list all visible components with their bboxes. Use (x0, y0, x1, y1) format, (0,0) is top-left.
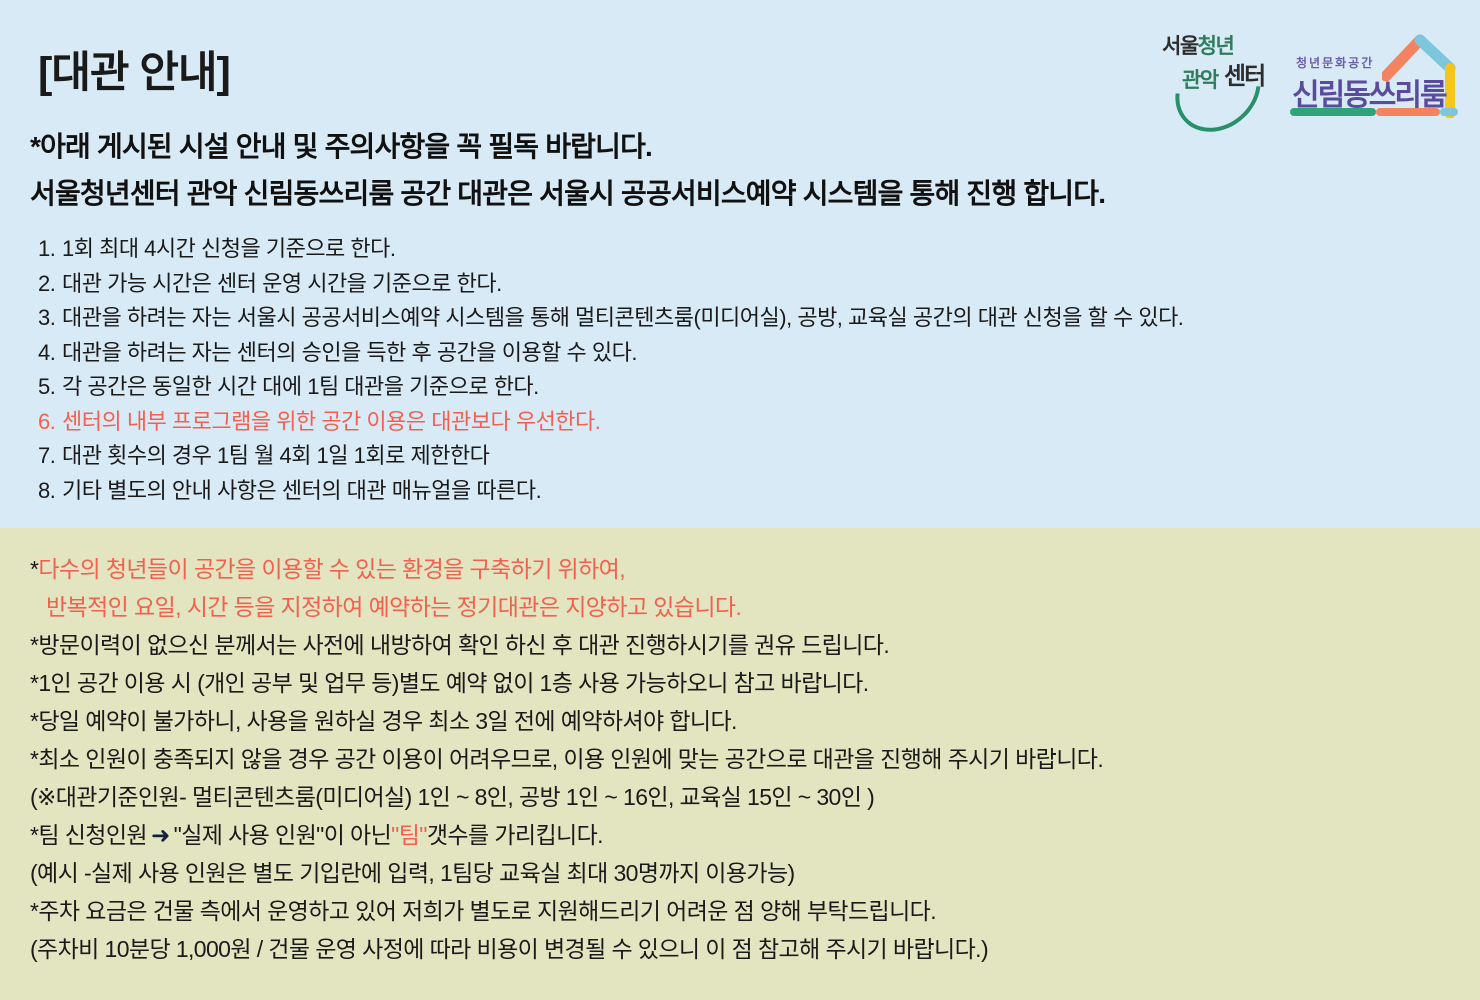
rule-number: 8. (38, 474, 62, 509)
rental-guide-poster: [대관 안내] 서울청년 센터 관악 청년문화공간 신림동쓰리룸 (0, 0, 1480, 1000)
note-text-red: "팀" (391, 822, 427, 848)
note-item: *방문이력이 없으신 분께서는 사전에 내방하여 확인 하신 후 대관 진행하시… (30, 626, 1103, 664)
note-text: *최소 인원이 충족되지 않을 경우 공간 이용이 어려우므로, 이용 인원에 … (30, 746, 1103, 772)
logo-center-text: 센터 (1224, 56, 1264, 91)
rule-number: 7. (38, 439, 62, 474)
note-text: (예시 -실제 사용 인원은 별도 기입란에 입력, 1팀당 교육실 최대 30… (30, 860, 795, 886)
note-text: *주차 요금은 건물 측에서 운영하고 있어 저희가 별도로 지원해드리기 어려… (30, 898, 936, 924)
note-item: *다수의 청년들이 공간을 이용할 수 있는 환경을 구축하기 위하여, (30, 550, 1103, 588)
rule-item: 7.대관 횟수의 경우 1팀 월 4회 1일 1회로 제한한다 (38, 439, 1183, 474)
rule-item: 2.대관 가능 시간은 센터 운영 시간을 기준으로 한다. (38, 267, 1183, 302)
sillimdong-threeroom-logo: 청년문화공간 신림동쓰리룸 (1280, 26, 1458, 116)
rule-number: 3. (38, 301, 62, 336)
rule-text: 센터의 내부 프로그램을 위한 공간 이용은 대관보다 우선한다. (62, 409, 600, 434)
rule-item-highlighted: 6.센터의 내부 프로그램을 위한 공간 이용은 대관보다 우선한다. (38, 405, 1183, 440)
seoul-youth-center-gwanak-logo: 서울청년 센터 관악 (1162, 30, 1274, 116)
note-text: (※대관기준인원- 멀티콘텐츠룸(미디어실) 1인 ~ 8인, 공방 1인 ~ … (30, 784, 874, 810)
rule-number: 5. (38, 370, 62, 405)
logo-youth-text: 청년 (1198, 35, 1234, 58)
rule-number: 6. (38, 405, 62, 440)
logo-zone: 서울청년 센터 관악 청년문화공간 신림동쓰리룸 (1162, 26, 1458, 116)
rule-number: 4. (38, 336, 62, 371)
note-text: *팀 신청인원 (30, 822, 147, 848)
note-item: *당일 예약이 불가하니, 사용을 원하실 경우 최소 3일 전에 예약하셔야 … (30, 702, 1103, 740)
logo-tagline: 청년문화공간 (1296, 54, 1374, 71)
note-text-red: 반복적인 요일, 시간 등을 지정하여 예약하는 정기대관은 지양하고 있습니다… (46, 594, 741, 620)
lead-notice-1: *아래 게시된 시설 안내 및 주의사항을 꼭 필독 바랍니다. (30, 125, 652, 165)
rule-number: 2. (38, 267, 62, 302)
right-arrow-icon: ➜ (147, 822, 174, 848)
rule-item: 4.대관을 하려는 자는 센터의 승인을 득한 후 공간을 이용할 수 있다. (38, 336, 1183, 371)
rule-item: 3.대관을 하려는 자는 서울시 공공서비스예약 시스템을 통해 멀티콘텐츠룸(… (38, 301, 1183, 336)
note-item: 반복적인 요일, 시간 등을 지정하여 예약하는 정기대관은 지양하고 있습니다… (30, 588, 1103, 626)
note-text: 갯수를 가리킵니다. (427, 822, 603, 848)
note-item: *팀 신청인원➜"실제 사용 인원"이 아닌"팀"갯수를 가리킵니다. (30, 816, 1103, 854)
logo-left-top-line: 서울청년 (1162, 36, 1274, 58)
note-item: *1인 공간 이용 시 (개인 공부 및 업무 등)별도 예약 없이 1층 사용… (30, 664, 1103, 702)
note-item: (예시 -실제 사용 인원은 별도 기입란에 입력, 1팀당 교육실 최대 30… (30, 854, 1103, 892)
rule-text: 대관 횟수의 경우 1팀 월 4회 1일 1회로 제한한다 (62, 443, 489, 468)
note-text: *당일 예약이 불가하니, 사용을 원하실 경우 최소 3일 전에 예약하셔야 … (30, 708, 737, 734)
note-text: (주차비 10분당 1,000원 / 건물 운영 사정에 따라 비용이 변경될 … (30, 936, 988, 962)
lead-notice-2: 서울청년센터 관악 신림동쓰리룸 공간 대관은 서울시 공공서비스예약 시스템을… (30, 172, 1105, 212)
page-title: [대관 안내] (38, 38, 230, 100)
note-text: "실제 사용 인원"이 아닌 (174, 822, 392, 848)
top-section: [대관 안내] 서울청년 센터 관악 청년문화공간 신림동쓰리룸 (0, 0, 1480, 528)
logo-bar-orange (1376, 108, 1440, 116)
rule-text: 대관을 하려는 자는 센터의 승인을 득한 후 공간을 이용할 수 있다. (62, 340, 637, 365)
rule-item: 5.각 공간은 동일한 시간 대에 1팀 대관을 기준으로 한다. (38, 370, 1183, 405)
rule-text: 대관을 하려는 자는 서울시 공공서비스예약 시스템을 통해 멀티콘텐츠룸(미디… (62, 305, 1183, 330)
logo-gwanak-text: 관악 (1182, 64, 1218, 94)
note-item: *최소 인원이 충족되지 않을 경우 공간 이용이 어려우므로, 이용 인원에 … (30, 740, 1103, 778)
logo-bar-green (1290, 108, 1376, 116)
note-text-red: 다수의 청년들이 공간을 이용할 수 있는 환경을 구축하기 위하여, (38, 556, 625, 582)
notes-list: *다수의 청년들이 공간을 이용할 수 있는 환경을 구축하기 위하여, 반복적… (30, 550, 1103, 968)
rule-text: 기타 별도의 안내 사항은 센터의 대관 매뉴얼을 따른다. (62, 478, 541, 503)
rule-item: 8.기타 별도의 안내 사항은 센터의 대관 매뉴얼을 따른다. (38, 474, 1183, 509)
logo-seoul-text: 서울 (1162, 35, 1198, 58)
rule-text: 각 공간은 동일한 시간 대에 1팀 대관을 기준으로 한다. (62, 374, 539, 399)
note-item: *주차 요금은 건물 측에서 운영하고 있어 저희가 별도로 지원해드리기 어려… (30, 892, 1103, 930)
rule-item: 1.1회 최대 4시간 신청을 기준으로 한다. (38, 232, 1183, 267)
rule-text: 대관 가능 시간은 센터 운영 시간을 기준으로 한다. (62, 271, 502, 296)
note-text: *방문이력이 없으신 분께서는 사전에 내방하여 확인 하신 후 대관 진행하시… (30, 632, 889, 658)
note-text: *1인 공간 이용 시 (개인 공부 및 업무 등)별도 예약 없이 1층 사용… (30, 670, 869, 696)
note-item: (※대관기준인원- 멀티콘텐츠룸(미디어실) 1인 ~ 8인, 공방 1인 ~ … (30, 778, 1103, 816)
bottom-section: *다수의 청년들이 공간을 이용할 수 있는 환경을 구축하기 위하여, 반복적… (0, 528, 1480, 1000)
rule-text: 1회 최대 4시간 신청을 기준으로 한다. (62, 236, 396, 261)
note-item: (주차비 10분당 1,000원 / 건물 운영 사정에 따라 비용이 변경될 … (30, 930, 1103, 968)
rules-list: 1.1회 최대 4시간 신청을 기준으로 한다. 2.대관 가능 시간은 센터 … (38, 232, 1183, 508)
logo-bar-blue (1440, 108, 1458, 116)
rule-number: 1. (38, 232, 62, 267)
